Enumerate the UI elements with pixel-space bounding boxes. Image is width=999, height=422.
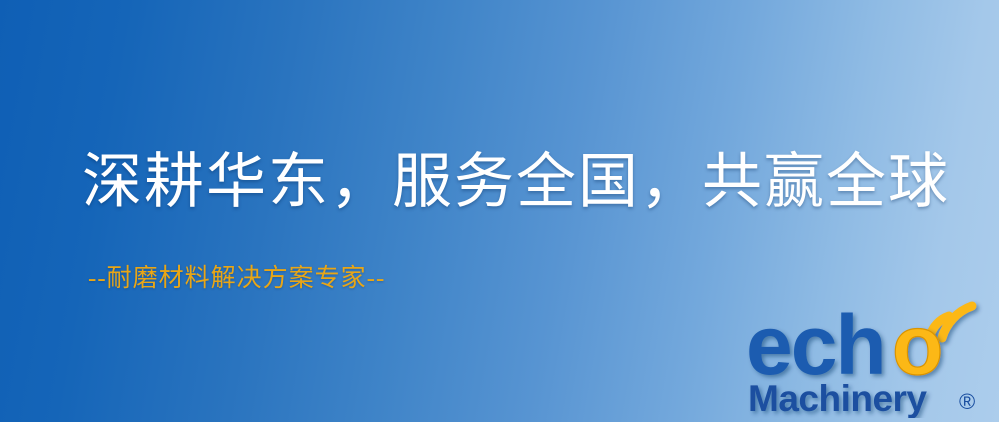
hero-banner: 深耕华东，服务全国，共赢全球 --耐磨材料解决方案专家-- ech o Mach… bbox=[0, 0, 999, 422]
logo-tagline: Machinery bbox=[748, 378, 927, 418]
banner-headline: 深耕华东，服务全国，共赢全球 bbox=[82, 152, 950, 212]
echo-machinery-logo: ech o Machinery ® bbox=[744, 296, 996, 418]
banner-subtitle: --耐磨材料解决方案专家-- bbox=[88, 266, 385, 291]
registered-trademark-icon: ® bbox=[959, 389, 975, 414]
